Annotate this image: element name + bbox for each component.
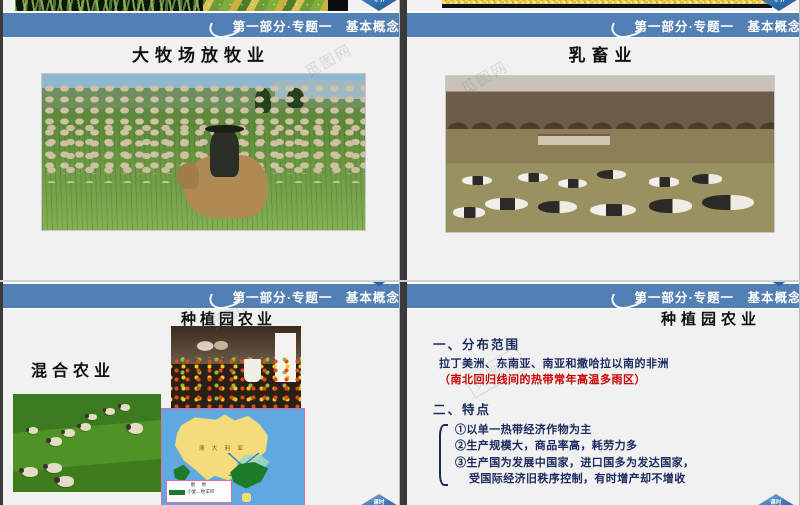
dairy-cattle-pasture-photo xyxy=(445,75,775,233)
cow-shape xyxy=(692,174,722,183)
badge-line-2: 导引 xyxy=(373,0,385,4)
badge-text: 课时 导引 xyxy=(358,0,400,11)
sheep-shape xyxy=(49,437,62,446)
sheep-shape xyxy=(87,414,97,421)
rice-paddy-photo xyxy=(15,0,213,11)
sheep-shape xyxy=(22,467,38,478)
badge-text: 课时 导引 xyxy=(758,282,800,286)
brace-decoration xyxy=(439,424,448,486)
rider-shape xyxy=(210,130,239,177)
slide-thumbnail-dairy[interactable]: 第一部分·专题一 基本概念 课时 导引 乳畜业 xyxy=(404,0,800,280)
horizontal-gutter xyxy=(0,280,800,282)
slide-canvas: 第一部分·专题一 基本概念 课时 导引 乳畜业 xyxy=(407,0,799,280)
course-badge-icon[interactable]: 课时 导引 xyxy=(758,0,800,11)
legend-swatch xyxy=(169,490,185,495)
slide-body: 一、分布范围 拉丁美洲、东南亚、南亚和撒哈拉以南的非洲 （南北回归线间的热带常年… xyxy=(433,334,785,488)
cow-shape xyxy=(590,204,636,216)
sheep-shape xyxy=(80,423,92,431)
cow-shape xyxy=(462,176,492,185)
slide-title: 混合农业 xyxy=(31,357,115,381)
section-heading-1: 一、分布范围 xyxy=(433,334,785,353)
header-label: 第一部分·专题一 基本概念 xyxy=(634,16,799,35)
feature-item: ②生产规模大，商品率高，耗劳力多 xyxy=(455,438,785,455)
slide-thumbnail-plantation[interactable]: 第一部分·专题一 基本概念 课时 导引 种植园农业 一、分布范围 拉丁美洲、东南… xyxy=(404,282,800,505)
slide-header-band: 第一部分·专题一 基本概念 xyxy=(407,282,799,309)
section-1-line-2: （南北回归线间的热带常年高温多雨区） xyxy=(439,373,785,389)
flower-rows-texture xyxy=(171,357,301,408)
badge-line-1: 课时 xyxy=(373,501,385,505)
slide-thumbnail-grid: 第一部分·专题一 基本概念 课时 导引 大牧场放牧业 xyxy=(0,0,800,505)
course-badge-icon[interactable]: 课时 导引 xyxy=(755,494,797,505)
sheep-shape xyxy=(120,404,130,411)
sheep-shape xyxy=(63,429,75,437)
badge-line-2: 导引 xyxy=(773,0,785,4)
country-label: 澳 大 利 亚 xyxy=(199,444,246,452)
map-legend: 图 例 小麦—牧羊带 xyxy=(166,480,231,503)
course-badge-icon[interactable]: 课时 导引 xyxy=(358,494,400,505)
feature-item: ③生产国为发展中国家，进口国多为发达国家， xyxy=(455,455,785,472)
badge-text: 课时 导引 xyxy=(755,494,797,505)
section-1-line-1: 拉丁美洲、东南亚、南亚和撒哈拉以南的非洲 xyxy=(439,357,785,373)
header-label: 第一部分·专题一 基本概念 xyxy=(233,16,399,35)
cow-shape xyxy=(558,179,588,188)
sheep-green-hill-photo xyxy=(13,394,161,492)
cow-shape xyxy=(702,195,754,211)
cow-shape xyxy=(649,199,692,213)
farmhouse-shape xyxy=(538,134,610,145)
sheep-shape xyxy=(105,408,115,415)
header-label: 第一部分·专题一 基本概念 xyxy=(634,287,799,306)
flower-market-photo xyxy=(171,326,301,408)
aerial-farmland-photo xyxy=(203,0,338,11)
course-badge-icon[interactable]: 课时 导引 xyxy=(758,282,800,286)
badge-text: 课时 导引 xyxy=(758,0,800,11)
cow-shape xyxy=(597,170,627,179)
sheep-flock-rider-photo xyxy=(41,73,366,231)
badge-text: 课时 导引 xyxy=(358,494,400,505)
slide-header-band: 第一部分·专题一 基本概念 xyxy=(3,11,399,38)
legend-title: 图 例 xyxy=(169,482,228,488)
photo-bottom-rule xyxy=(442,4,772,8)
sheep-shape xyxy=(46,463,62,474)
legend-row: 小麦—牧羊带 xyxy=(169,489,228,495)
cow-shape xyxy=(518,173,548,182)
feature-item: ①以单一热带经济作物为主 xyxy=(455,422,785,439)
cow-shape xyxy=(453,207,486,218)
course-badge-icon[interactable]: 课时 导引 xyxy=(358,282,400,286)
sheep-shape xyxy=(28,427,38,434)
australia-map-photo: 澳 大 利 亚 图 例 小麦—牧羊带 xyxy=(161,408,305,505)
slide-thumbnail-mixed-farming[interactable]: 第一部分·专题一 基本概念 课时 导引 种植园农业 混合农业 xyxy=(0,282,400,505)
feature-list: ①以单一热带经济作物为主 ②生产规模大，商品率高，耗劳力多 ③生产国为发展中国家… xyxy=(439,422,785,488)
course-badge-icon[interactable]: 课时 导引 xyxy=(358,0,400,11)
section-heading-2: 二、特点 xyxy=(433,399,785,418)
cow-shape xyxy=(649,177,679,186)
rice-stalks-texture xyxy=(15,0,213,11)
slide-title: 大牧场放牧业 xyxy=(3,41,399,66)
slide-canvas: 第一部分·专题一 基本概念 课时 导引 种植园农业 混合农业 xyxy=(3,282,399,505)
slide-canvas: 第一部分·专题一 基本概念 课时 导引 种植园农业 一、分布范围 拉丁美洲、东南… xyxy=(407,282,799,505)
photo-dark-edge xyxy=(328,0,348,11)
slide-canvas: 第一部分·专题一 基本概念 课时 导引 大牧场放牧业 xyxy=(3,0,399,280)
cow-shape xyxy=(485,198,528,210)
header-label: 第一部分·专题一 基本概念 xyxy=(233,287,399,306)
legend-item-label: 小麦—牧羊带 xyxy=(187,489,214,495)
aerial-field-dots xyxy=(203,0,338,11)
slide-thumbnail-ranching[interactable]: 第一部分·专题一 基本概念 课时 导引 大牧场放牧业 xyxy=(0,0,400,280)
vertical-gutter xyxy=(400,0,404,505)
slide-title: 种植园农业 xyxy=(661,308,761,329)
vase-shape xyxy=(244,359,261,382)
slide-title: 乳畜业 xyxy=(407,41,799,66)
tasmania-shape xyxy=(242,493,252,502)
badge-text: 课时 导引 xyxy=(358,282,400,286)
sheep-shape xyxy=(128,423,143,434)
cow-shape xyxy=(538,201,577,213)
badge-line-1: 课时 xyxy=(770,501,782,505)
slide-header-band: 第一部分·专题一 基本概念 xyxy=(3,282,399,309)
sheep-shape xyxy=(57,476,73,487)
feature-item-continued: 受国际经济旧秩序控制，有时增产却不增收 xyxy=(455,471,785,488)
slide-header-band: 第一部分·专题一 基本概念 xyxy=(407,11,799,38)
treeline-texture xyxy=(446,88,774,129)
